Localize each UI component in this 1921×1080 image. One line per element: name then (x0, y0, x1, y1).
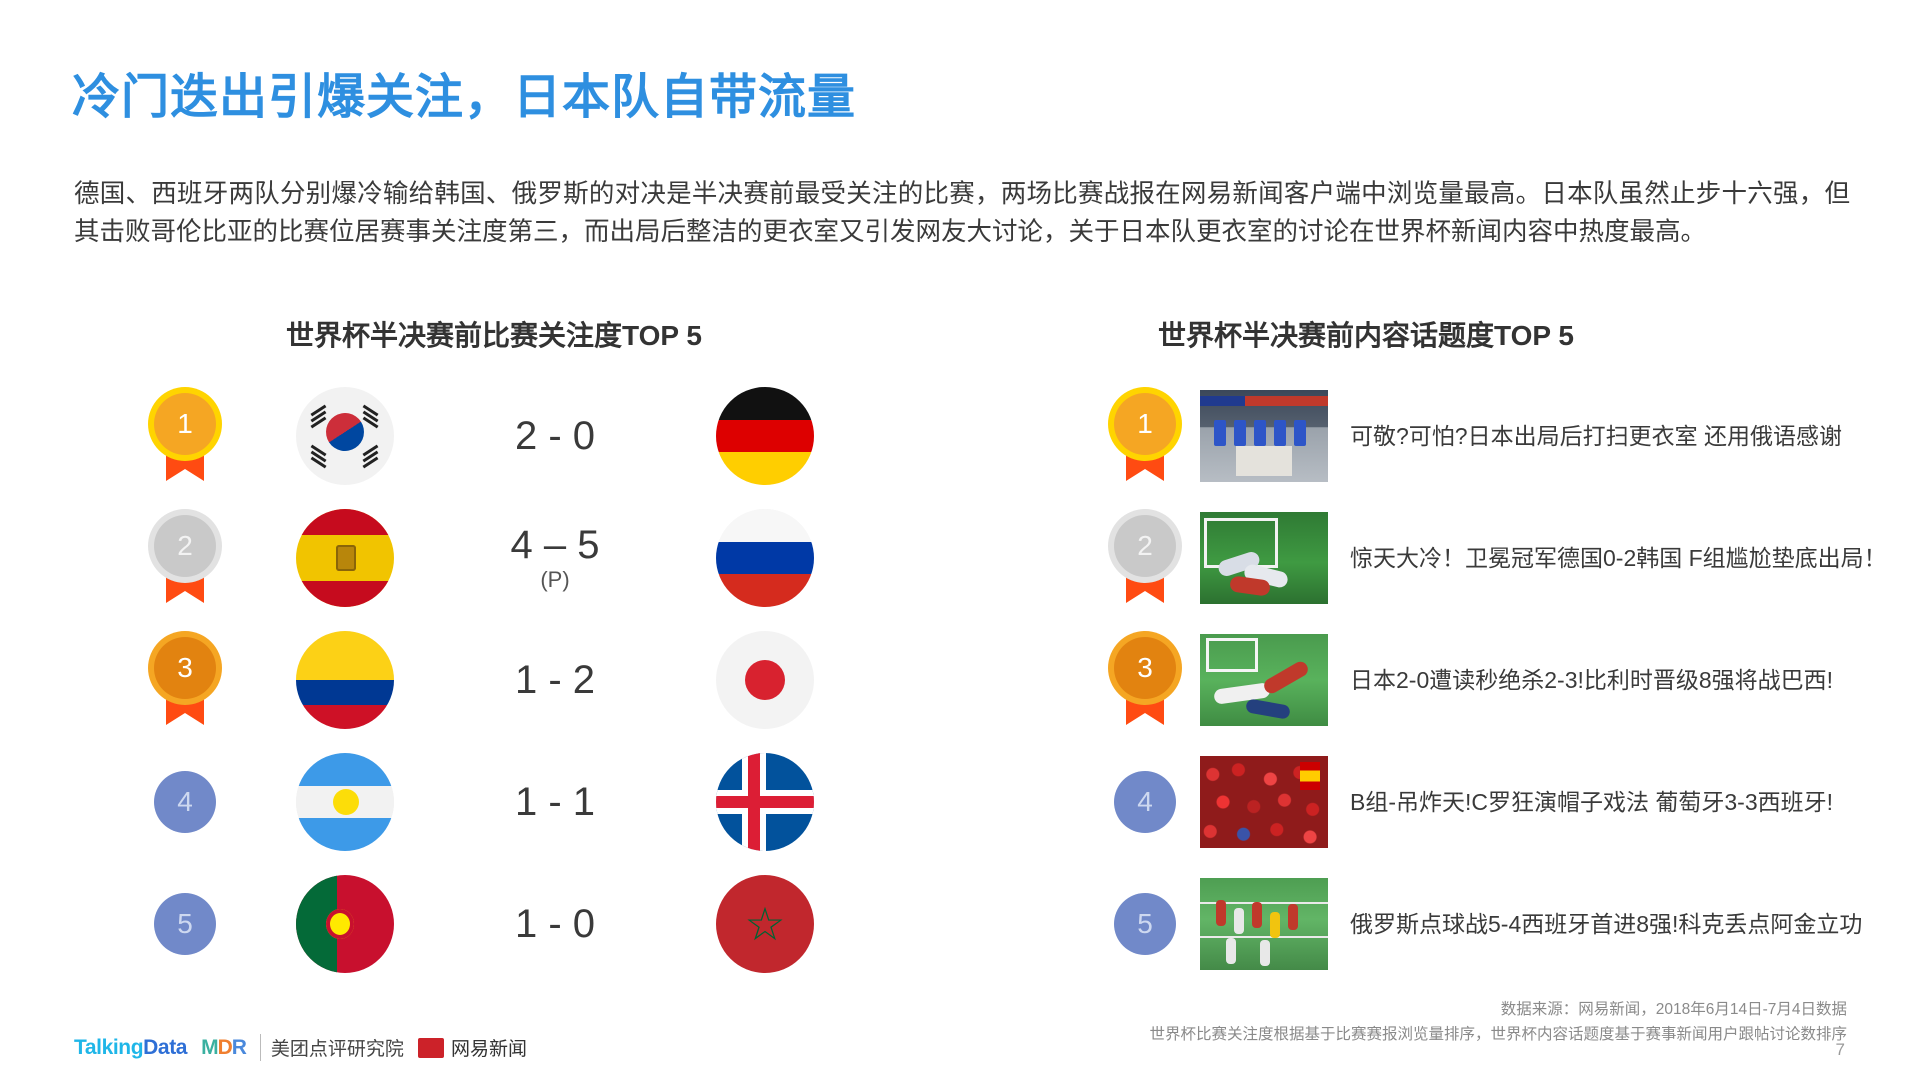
rank-number: 3 (154, 637, 216, 699)
list-item[interactable]: 4 B组-吊炸天!C罗狂演帽子戏法 葡萄牙3-3西班牙! (1090, 741, 1910, 863)
rank-cell: 5 (120, 893, 250, 955)
mdr-logo-m: M (201, 1036, 218, 1059)
talkingdata-logo-part2: Data (143, 1036, 187, 1059)
headline-text: 日本2-0遭读秒绝杀2-3!比利时晋级8强将战巴西! (1328, 663, 1910, 697)
rank-number: 1 (1114, 393, 1176, 455)
content-topic-list: 1 可敬?可怕?日本出局后打扫更衣室 还用俄语感谢 2 (1090, 375, 1910, 985)
right-section-heading: 世界杯半决赛前内容话题度TOP 5 (1158, 314, 1574, 354)
home-flag-cell (250, 875, 440, 973)
celebration-photo (1200, 878, 1328, 970)
germany-flag-icon (716, 387, 814, 485)
netease-news-logo: 网易新闻 (418, 1034, 527, 1061)
score-value: 2 - 0 (440, 415, 670, 457)
rank-number: 2 (1114, 515, 1176, 577)
portugal-flag-icon (296, 875, 394, 973)
left-section-heading: 世界杯半决赛前比赛关注度TOP 5 (286, 314, 702, 354)
page-number: 7 (1836, 1040, 1845, 1060)
score-note: (P) (440, 568, 670, 591)
rank-cell: 1 (120, 393, 250, 479)
talkingdata-logo: TalkingData (74, 1036, 187, 1060)
source-line-2: 世界杯比赛关注度根据基于比赛赛报浏览量排序，世界杯内容话题度基于赛事新闻用户跟帖… (787, 1022, 1847, 1047)
page-title: 冷门迭出引爆关注，日本队自带流量 (72, 57, 856, 127)
spain-flag-icon (296, 509, 394, 607)
mdr-logo-d: D (218, 1036, 232, 1059)
rank-number: 3 (1114, 637, 1176, 699)
japan-flag-icon (716, 631, 814, 729)
gold-medal-icon: 1 (154, 393, 216, 479)
argentina-flag-icon (296, 753, 394, 851)
score-cell: 4 – 5 (P) (440, 524, 670, 591)
netease-news-label: 网易新闻 (451, 1034, 527, 1061)
away-flag-cell (670, 631, 860, 729)
source-note: 数据来源：网易新闻，2018年6月14日-7月4日数据 世界杯比赛关注度根据基于… (787, 997, 1847, 1047)
headline-text: B组-吊炸天!C罗狂演帽子戏法 葡萄牙3-3西班牙! (1328, 785, 1910, 819)
home-flag-cell (250, 509, 440, 607)
players-ground-photo (1200, 634, 1328, 726)
headline-text: 俄罗斯点球战5-4西班牙首进8强!科克丢点阿金立功 (1328, 907, 1910, 941)
table-row[interactable]: 4 1 - 1 (120, 741, 1000, 863)
score-value: 1 - 1 (440, 781, 670, 823)
home-flag-cell (250, 387, 440, 485)
score-value: 1 - 2 (440, 659, 670, 701)
list-item[interactable]: 2 惊天大冷！卫冕冠军德国0-2韩国 F组尴尬垫底出局！ (1090, 497, 1910, 619)
home-flag-cell (250, 631, 440, 729)
table-row[interactable]: 5 1 - 0 ☆ (120, 863, 1000, 985)
rank-number: 1 (154, 393, 216, 455)
silver-medal-icon: 2 (1114, 515, 1176, 601)
rank-cell: 2 (1090, 515, 1200, 601)
mdr-logo-r: R (232, 1036, 246, 1059)
rank-badge: 5 (154, 893, 216, 955)
list-item[interactable]: 3 日本2-0遭读秒绝杀2-3!比利时晋级8强将战巴西! (1090, 619, 1910, 741)
away-flag-cell: ☆ (670, 875, 860, 973)
russia-flag-icon (716, 509, 814, 607)
score-cell: 2 - 0 (440, 415, 670, 457)
score-cell: 1 - 2 (440, 659, 670, 701)
silver-medal-icon: 2 (154, 515, 216, 601)
source-line-1: 数据来源：网易新闻，2018年6月14日-7月4日数据 (787, 997, 1847, 1022)
rank-cell: 4 (1090, 771, 1200, 833)
headline-text: 惊天大冷！卫冕冠军德国0-2韩国 F组尴尬垫底出局！ (1328, 541, 1910, 575)
logo-bar: TalkingData MDR 美团点评研究院 网易新闻 (74, 1034, 527, 1061)
korea-flag-icon (296, 387, 394, 485)
rank-cell: 1 (1090, 393, 1200, 479)
meituan-research-logo: 美团点评研究院 (260, 1034, 404, 1061)
rank-badge: 4 (1114, 771, 1176, 833)
goal-save-photo (1200, 512, 1328, 604)
score-cell: 1 - 1 (440, 781, 670, 823)
match-attention-list: 1 (120, 375, 1000, 985)
rank-badge: 5 (1114, 893, 1176, 955)
rank-cell: 4 (120, 771, 250, 833)
colombia-flag-icon (296, 631, 394, 729)
gold-medal-icon: 1 (1114, 393, 1176, 479)
headline-text: 可敬?可怕?日本出局后打扫更衣室 还用俄语感谢 (1328, 419, 1910, 453)
score-cell: 1 - 0 (440, 903, 670, 945)
bronze-medal-icon: 3 (154, 637, 216, 723)
away-flag-cell (670, 387, 860, 485)
morocco-flag-icon: ☆ (716, 875, 814, 973)
rank-cell: 3 (1090, 637, 1200, 723)
lede-paragraph: 德国、西班牙两队分别爆冷输给韩国、俄罗斯的对决是半决赛前最受关注的比赛，两场比赛… (74, 175, 1850, 251)
red-fans-photo (1200, 756, 1328, 848)
bronze-medal-icon: 3 (1114, 637, 1176, 723)
rank-number: 2 (154, 515, 216, 577)
list-item[interactable]: 5 俄罗斯点球战5-4西班牙首进8强!科克丢点阿金立功 (1090, 863, 1910, 985)
table-row[interactable]: 1 (120, 375, 1000, 497)
rank-cell: 2 (120, 515, 250, 601)
locker-room-photo (1200, 390, 1328, 482)
table-row[interactable]: 2 4 – 5 (P) (120, 497, 1000, 619)
rank-cell: 3 (120, 637, 250, 723)
away-flag-cell (670, 753, 860, 851)
score-value: 4 – 5 (440, 524, 670, 566)
talkingdata-logo-part1: Talking (74, 1036, 143, 1059)
list-item[interactable]: 1 可敬?可怕?日本出局后打扫更衣室 还用俄语感谢 (1090, 375, 1910, 497)
iceland-flag-icon (716, 753, 814, 851)
slide-page: 冷门迭出引爆关注，日本队自带流量 德国、西班牙两队分别爆冷输给韩国、俄罗斯的对决… (0, 0, 1921, 1080)
table-row[interactable]: 3 1 - 2 (120, 619, 1000, 741)
mdr-logo: MDR (201, 1036, 246, 1060)
score-value: 1 - 0 (440, 903, 670, 945)
rank-cell: 5 (1090, 893, 1200, 955)
away-flag-cell (670, 509, 860, 607)
home-flag-cell (250, 753, 440, 851)
rank-badge: 4 (154, 771, 216, 833)
netease-badge-icon (418, 1038, 444, 1058)
